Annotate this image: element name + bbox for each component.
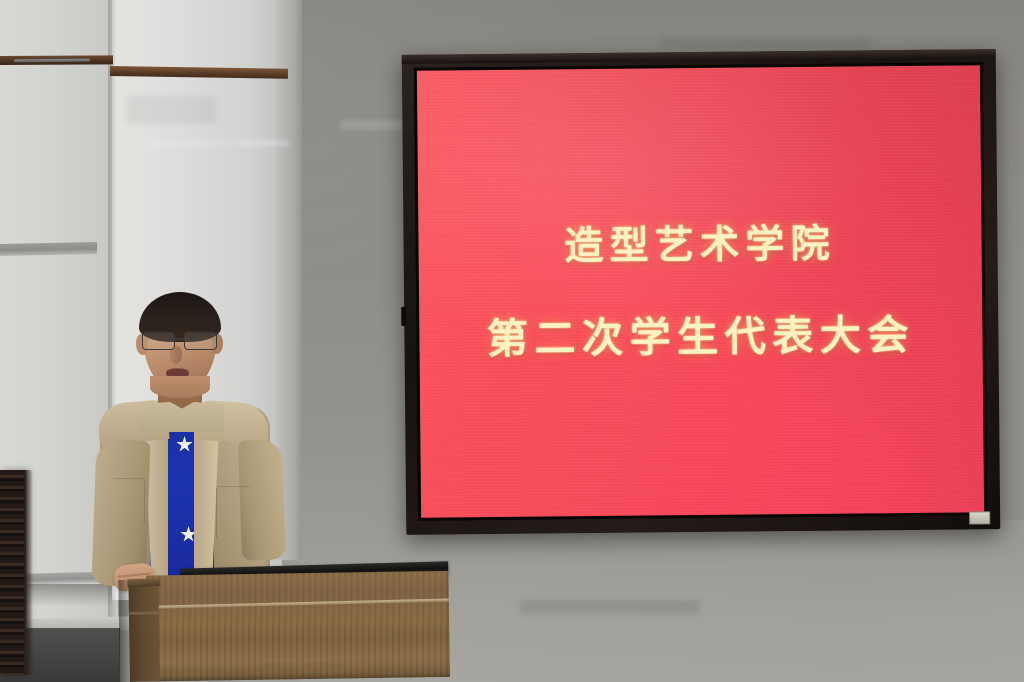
wall-stain: [126, 96, 216, 124]
wall-smudge-lower: [520, 600, 700, 614]
display-heading-line-2: 第二次学生代表大会: [487, 314, 915, 359]
glasses-lens-right: [184, 332, 217, 350]
podium-side-post: [128, 580, 160, 681]
chin: [150, 376, 210, 398]
jacket-pocket-left: [114, 478, 145, 525]
wall-scuff-2: [242, 140, 292, 146]
display-side-nub: [401, 307, 406, 326]
glasses-lens-left: [142, 332, 175, 350]
display-surface: 造型艺术学院 第二次学生代表大会: [417, 65, 984, 517]
presentation-scene: 造型艺术学院 第二次学生代表大会: [0, 0, 1024, 682]
jacket-pocket-right: [216, 486, 251, 539]
display-heading-line-1: 造型艺术学院: [564, 224, 836, 266]
display-label-sticker: [969, 511, 990, 524]
stacked-objects: [0, 470, 26, 675]
stacked-objects-shadow: [24, 470, 33, 675]
speaker-figure: [88, 290, 314, 590]
glasses-icon: [140, 332, 220, 348]
podium-front-panel: [146, 571, 450, 682]
nose: [170, 346, 182, 364]
wall-smudge: [660, 38, 870, 47]
star-icon: [176, 436, 193, 453]
led-display[interactable]: 造型艺术学院 第二次学生代表大会: [402, 49, 1001, 535]
podium[interactable]: [118, 563, 450, 682]
wall-ledge-upper: [0, 242, 97, 256]
podium-side-post-cap: [127, 578, 160, 587]
podium-side-post-seam: [129, 611, 159, 614]
